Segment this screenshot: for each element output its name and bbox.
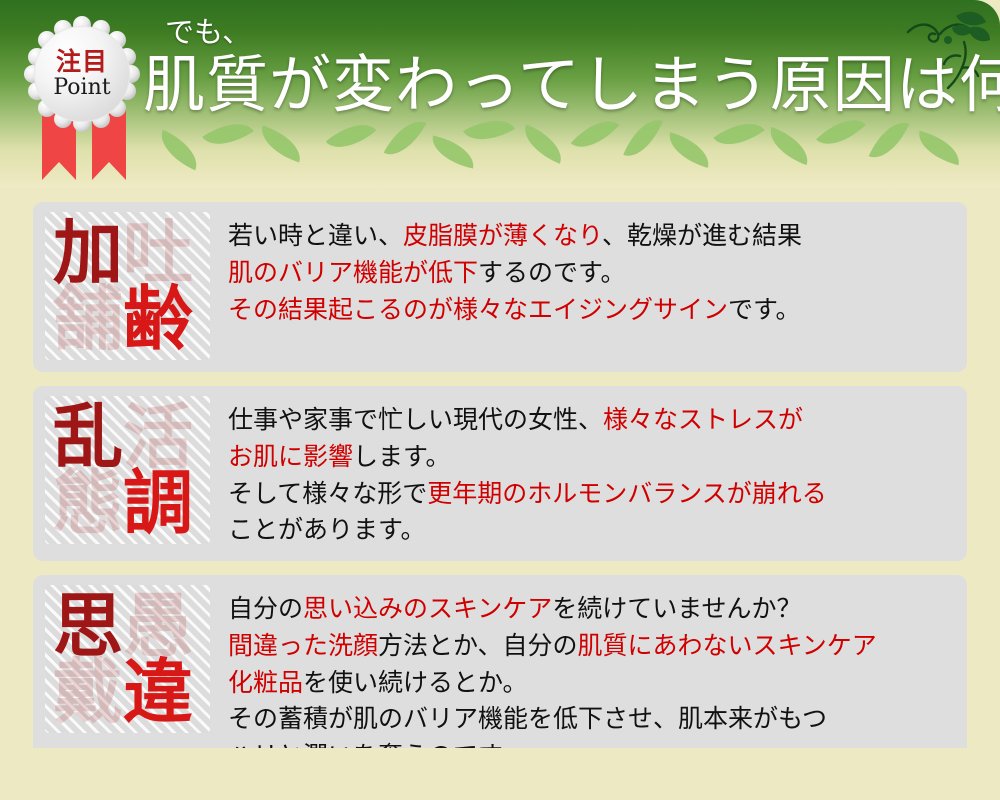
plain-text: です。: [728, 295, 801, 324]
highlight-text: 思い込みのスキンケア: [303, 594, 552, 623]
badge-en-label: Point: [53, 77, 110, 99]
highlight-text: 皮脂膜が薄くなり: [403, 221, 602, 250]
kanji-main-bottom: 調: [123, 468, 193, 538]
leaf-icon: [153, 130, 205, 171]
highlight-text: 化粧品: [228, 668, 303, 697]
text-line: 自分の思い込みのスキンケアを続けていませんか？: [228, 591, 951, 628]
highlight-text: その結果起こるのが様々なエイジングサイン: [228, 295, 728, 324]
kanji-main-bottom: 違: [123, 657, 193, 727]
kanji-ghost-bottom: 態: [53, 468, 123, 538]
highlight-text: お肌に影響: [228, 442, 353, 471]
highlight-text: 更年期のホルモンバランスが崩れる: [427, 479, 827, 508]
leaf-icon: [914, 131, 964, 165]
award-seal-icon: 注目 Point: [24, 16, 140, 132]
text-line: 若い時と違い、皮脂膜が薄くなり、乾燥が進む結果: [228, 218, 951, 255]
leaf-icon: [428, 135, 478, 168]
footer-spacer: [0, 748, 1000, 800]
reason-text: 自分の思い込みのスキンケアを続けていませんか？間違った洗顔方法とか、自分の肌質に…: [210, 585, 955, 775]
plain-text: その蓄積が肌のバリア機能を低下させ、肌本来がもつ: [228, 704, 827, 733]
text-line: 肌のバリア機能が低下するのです。: [228, 255, 951, 292]
plain-text: 、乾燥が進む結果: [602, 221, 802, 250]
highlight-text: 間違った洗顔: [228, 631, 378, 660]
page-title: 肌質が変わってしまう原因は何？: [143, 52, 1000, 119]
kanji-ghost-bottom: 戴: [53, 657, 123, 727]
leaf-icon: [517, 124, 569, 163]
plain-text: するのです。: [478, 258, 626, 287]
reason-card-list: 加吐舗齢若い時と違い、皮脂膜が薄くなり、乾燥が進む結果肌のバリア機能が低下するの…: [0, 188, 1000, 787]
text-line: その結果起こるのが様々なエイジングサインです。: [228, 292, 951, 329]
text-line: そして様々な形で更年期のホルモンバランスが崩れる: [228, 476, 951, 513]
reason-kanji-icon: 思愚戴違: [45, 585, 210, 733]
reason-kanji-icon: 加吐舗齢: [45, 212, 210, 360]
infographic-page: 注目 Point でも、 肌質が変わってしまう原因は何？ 加吐舗齢若い時と違い、…: [0, 0, 1000, 800]
reason-card: 加吐舗齢若い時と違い、皮脂膜が薄くなり、乾燥が進む結果肌のバリア機能が低下するの…: [33, 202, 967, 372]
leaf-icon: [869, 114, 910, 166]
plain-text: 仕事や家事で忙しい現代の女性、: [228, 405, 603, 434]
plain-text: 若い時と違い、: [228, 221, 403, 250]
reason-kanji-icon: 乱活態調: [45, 396, 210, 544]
leaf-icon: [763, 127, 814, 165]
text-line: 仕事や家事で忙しい現代の女性、様々なストレスが: [228, 402, 951, 439]
header-banner: 注目 Point でも、 肌質が変わってしまう原因は何？: [0, 0, 1000, 188]
leaf-icon: [664, 132, 715, 168]
seal-face: 注目 Point: [34, 26, 130, 122]
plain-text: ことがあります。: [228, 515, 426, 544]
text-line: お肌に影響します。: [228, 439, 951, 476]
plain-text: を使い続けるとか。: [303, 668, 528, 697]
plain-text: 自分の: [228, 594, 303, 623]
plain-text: します。: [353, 442, 451, 471]
reason-card: 乱活態調仕事や家事で忙しい現代の女性、様々なストレスがお肌に影響します。そして様…: [33, 386, 967, 561]
plain-text: そして様々な形で: [228, 479, 427, 508]
leaf-decoration-row: [0, 118, 1000, 180]
plain-text: を続けていませんか？: [552, 594, 801, 623]
kanji-ghost-bottom: 舗: [53, 284, 123, 354]
text-line: 化粧品を使い続けるとか。: [228, 665, 951, 702]
leaf-icon: [255, 125, 306, 162]
attention-badge: 注目 Point: [14, 8, 146, 184]
highlight-text: 肌質にあわないスキンケア: [578, 631, 877, 660]
text-line: 間違った洗顔方法とか、自分の肌質にあわないスキンケア: [228, 628, 951, 665]
kanji-main-bottom: 齢: [123, 284, 193, 354]
badge-jp-label: 注目: [56, 49, 108, 74]
highlight-text: 様々なストレスが: [603, 405, 803, 434]
text-line: その蓄積が肌のバリア機能を低下させ、肌本来がもつ: [228, 701, 951, 738]
text-line: ことがあります。: [228, 512, 951, 549]
highlight-text: 肌のバリア機能が低下: [228, 258, 478, 287]
reason-text: 仕事や家事で忙しい現代の女性、様々なストレスがお肌に影響します。そして様々な形で…: [210, 396, 955, 549]
plain-text: 方法とか、自分の: [378, 631, 578, 660]
reason-text: 若い時と違い、皮脂膜が薄くなり、乾燥が進む結果肌のバリア機能が低下するのです。そ…: [210, 212, 955, 328]
header-subtitle: でも、: [165, 18, 251, 47]
